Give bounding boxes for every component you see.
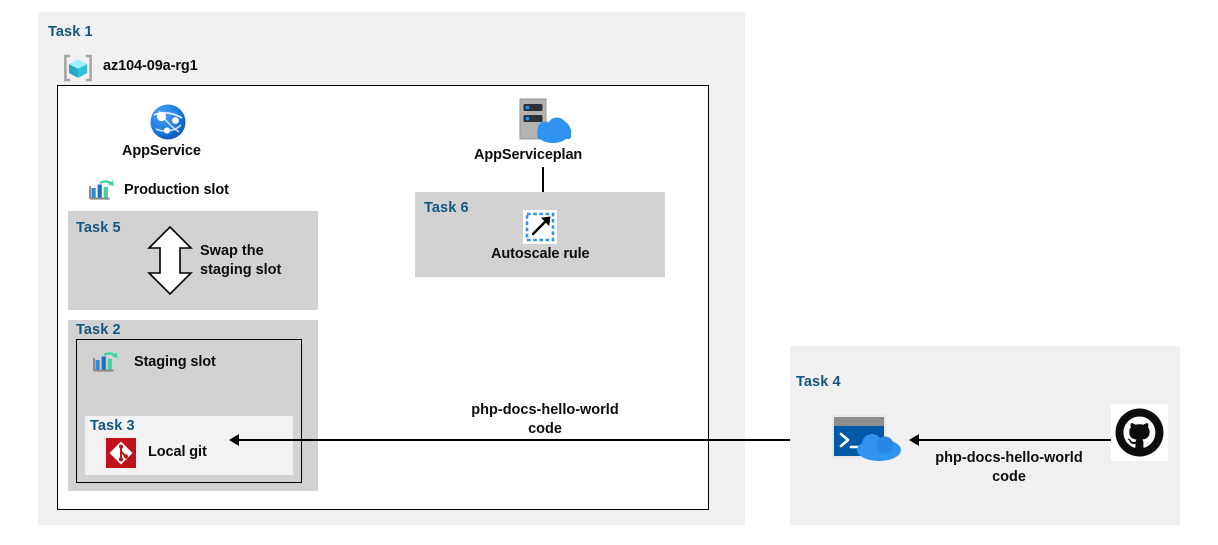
swap-arrow-icon — [147, 226, 193, 295]
autoscale-rule-icon — [523, 210, 557, 244]
task5-label: Task 5 — [76, 220, 121, 236]
autoscale-rule-label: Autoscale rule — [491, 246, 590, 262]
staging-slot-label: Staging slot — [134, 354, 216, 370]
github-to-cloudshell-arrow-head — [909, 434, 919, 446]
app-service-label: AppService — [122, 143, 201, 159]
deployment-slot-icon-production — [88, 176, 116, 204]
cloudshell-to-localgit-arrow-line — [238, 439, 816, 441]
app-service-icon — [148, 102, 188, 142]
resource-group-icon — [62, 52, 94, 84]
swap-annotation-line1: Swap the — [200, 242, 320, 261]
code-to-slot-line2: code — [452, 420, 638, 439]
swap-annotation-line2: staging slot — [200, 261, 320, 280]
swap-annotation: Swap the staging slot — [200, 242, 320, 280]
task3-container: Task 3 Local git — [85, 416, 293, 475]
task2-container: Task 2 Staging slot Task 3 — [68, 320, 318, 491]
resource-group-label: az104-09a-rg1 — [103, 58, 198, 74]
github-to-cloudshell-arrow-line — [918, 439, 1113, 441]
code-from-github-annotation: php-docs-hello-world code — [916, 449, 1102, 487]
code-to-slot-annotation: php-docs-hello-world code — [452, 401, 638, 439]
task4-label: Task 4 — [796, 374, 841, 390]
app-service-plan-label: AppServiceplan — [474, 147, 582, 163]
code-from-github-line1: php-docs-hello-world — [916, 449, 1102, 468]
task2-label: Task 2 — [76, 322, 121, 338]
deployment-slot-icon-staging — [92, 348, 120, 376]
cloudshell-to-localgit-arrow-head — [229, 434, 239, 446]
task1-label: Task 1 — [48, 24, 93, 40]
diagram-canvas: Task 1 az104-09a-rg1 — [0, 0, 1218, 545]
local-git-icon — [106, 438, 136, 468]
code-to-slot-line1: php-docs-hello-world — [452, 401, 638, 420]
code-from-github-line2: code — [916, 468, 1102, 487]
cloud-shell-icon — [831, 414, 903, 464]
task2-inner-box: Staging slot Task 3 — [76, 339, 302, 483]
task3-label: Task 3 — [90, 418, 135, 434]
app-service-plan-icon — [513, 97, 571, 145]
github-icon — [1111, 404, 1168, 461]
production-slot-label: Production slot — [124, 182, 229, 198]
task6-container: Task 6 Autoscale rule — [415, 192, 665, 277]
task6-label: Task 6 — [424, 200, 469, 216]
local-git-label: Local git — [148, 444, 207, 460]
